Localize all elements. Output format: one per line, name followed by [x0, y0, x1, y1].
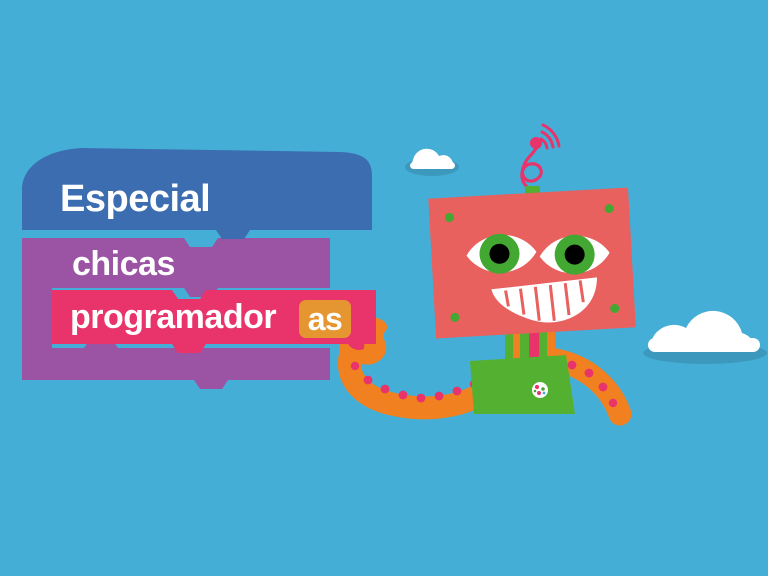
- block-label-chicas: chicas: [72, 245, 175, 284]
- block-label-especial: Especial: [60, 178, 210, 221]
- block-label-programador: programador: [70, 298, 276, 337]
- illustration-canvas: Especial chicas programador as: [0, 0, 768, 576]
- block-input-as[interactable]: as: [299, 300, 351, 338]
- scratch-blocks-layer: [0, 0, 768, 576]
